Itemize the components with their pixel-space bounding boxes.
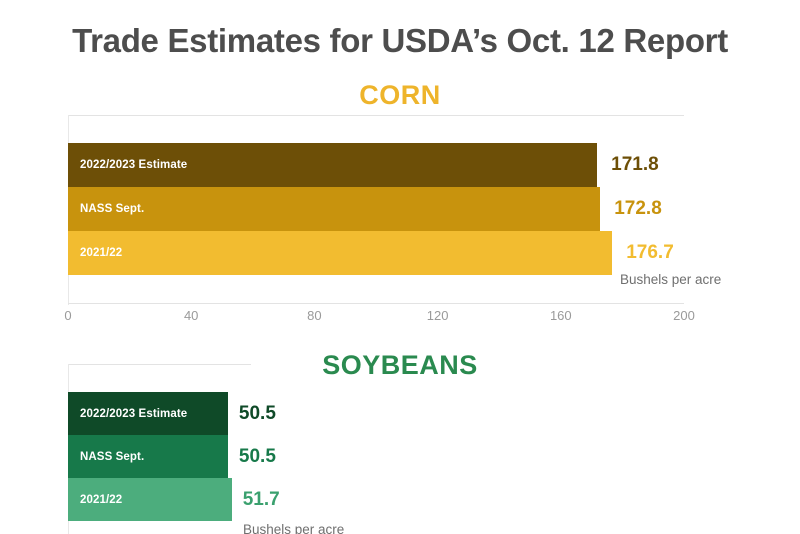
soybeans-top-gridline	[68, 364, 251, 365]
page-title: Trade Estimates for USDA’s Oct. 12 Repor…	[0, 22, 800, 60]
bar-3: 2021/22	[68, 478, 232, 521]
bar-value-label: 172.8	[614, 187, 662, 231]
bar-2: NASS Sept.	[68, 187, 600, 231]
bar-category-label: 2021/22	[80, 494, 122, 506]
bar-category-label: 2022/2023 Estimate	[80, 159, 187, 171]
soybeans-units-label: Bushels per acre	[243, 522, 344, 534]
corn-top-gridline	[68, 115, 684, 116]
x-axis-tick-160: 160	[550, 308, 572, 323]
x-axis-tick-80: 80	[307, 308, 321, 323]
bar-category-label: NASS Sept.	[80, 203, 144, 215]
bar-value-label: 171.8	[611, 143, 659, 187]
bar-category-label: 2021/22	[80, 247, 122, 259]
bar-value-label: 50.5	[239, 392, 276, 435]
x-axis-tick-40: 40	[184, 308, 198, 323]
bar-category-label: NASS Sept.	[80, 451, 144, 463]
x-axis-tick-200: 200	[673, 308, 695, 323]
corn-x-axis-line	[68, 303, 684, 304]
bar-2: NASS Sept.	[68, 435, 228, 478]
bar-value-label: 51.7	[243, 478, 280, 521]
bar-value-label: 176.7	[626, 231, 674, 275]
x-axis-tick-0: 0	[64, 308, 71, 323]
bar-1: 2022/2023 Estimate	[68, 143, 597, 187]
infographic-page: Trade Estimates for USDA’s Oct. 12 Repor…	[0, 0, 800, 534]
bar-category-label: 2022/2023 Estimate	[80, 408, 187, 420]
section-heading-corn: CORN	[0, 80, 800, 111]
section-heading-soybeans: SOYBEANS	[0, 350, 800, 381]
corn-units-label: Bushels per acre	[620, 272, 721, 287]
bar-3: 2021/22	[68, 231, 612, 275]
bar-1: 2022/2023 Estimate	[68, 392, 228, 435]
x-axis-tick-120: 120	[427, 308, 449, 323]
corn-x-axis: 04080120160200	[68, 303, 684, 333]
bar-value-label: 50.5	[239, 435, 276, 478]
